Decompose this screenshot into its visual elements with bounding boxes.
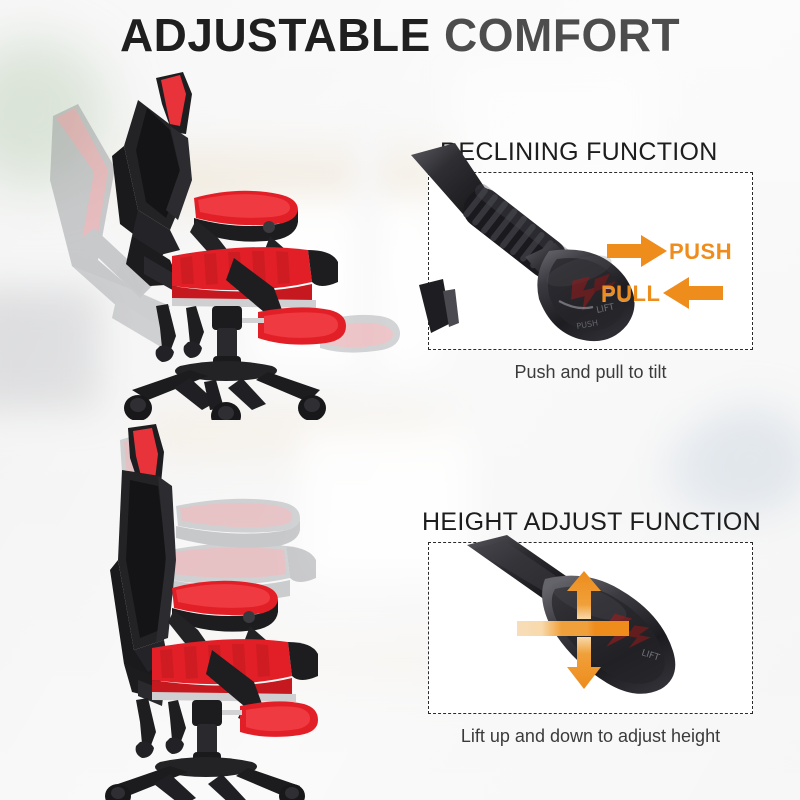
title-strong-word: ADJUSTABLE [120, 9, 431, 61]
panel-heading-height-adjust: HEIGHT ADJUST FUNCTION [422, 508, 761, 537]
chair-control-levers [156, 304, 204, 362]
panel-caption-height-adjust: Lift up and down to adjust height [418, 726, 763, 747]
arrow-right-icon [607, 235, 667, 267]
height-range-gradient-bar [517, 621, 629, 636]
push-annotation: PUSH [607, 235, 667, 272]
gaming-chair-height-illustration [60, 410, 420, 800]
title-soft-word: COMFORT [444, 9, 680, 61]
chair-control-levers [136, 698, 186, 758]
gaming-chair-recline-illustration [20, 60, 410, 420]
panel-caption-reclining: Push and pull to tilt [428, 362, 753, 383]
arrow-down-icon [567, 637, 601, 689]
product-infographic: ADJUSTABLE COMFORT [0, 0, 800, 800]
panel-heading-reclining: RECLINING FUNCTION [440, 138, 718, 167]
arrow-left-icon [663, 277, 723, 309]
page-title: ADJUSTABLE COMFORT [0, 8, 800, 62]
panel-reclining-function: RECLINING FUNCTION [410, 130, 800, 400]
push-label: PUSH [669, 239, 732, 265]
chair-base-and-casters [105, 757, 305, 800]
panel-height-adjust-function: HEIGHT ADJUST FUNCTION [410, 500, 800, 780]
arrow-up-icon [567, 571, 601, 619]
height-adjust-photo-frame: LIFT [428, 542, 753, 714]
reclining-photo-frame: LIFT PUSH PUSH PULL [428, 172, 753, 350]
pull-label: PULL [601, 281, 660, 307]
